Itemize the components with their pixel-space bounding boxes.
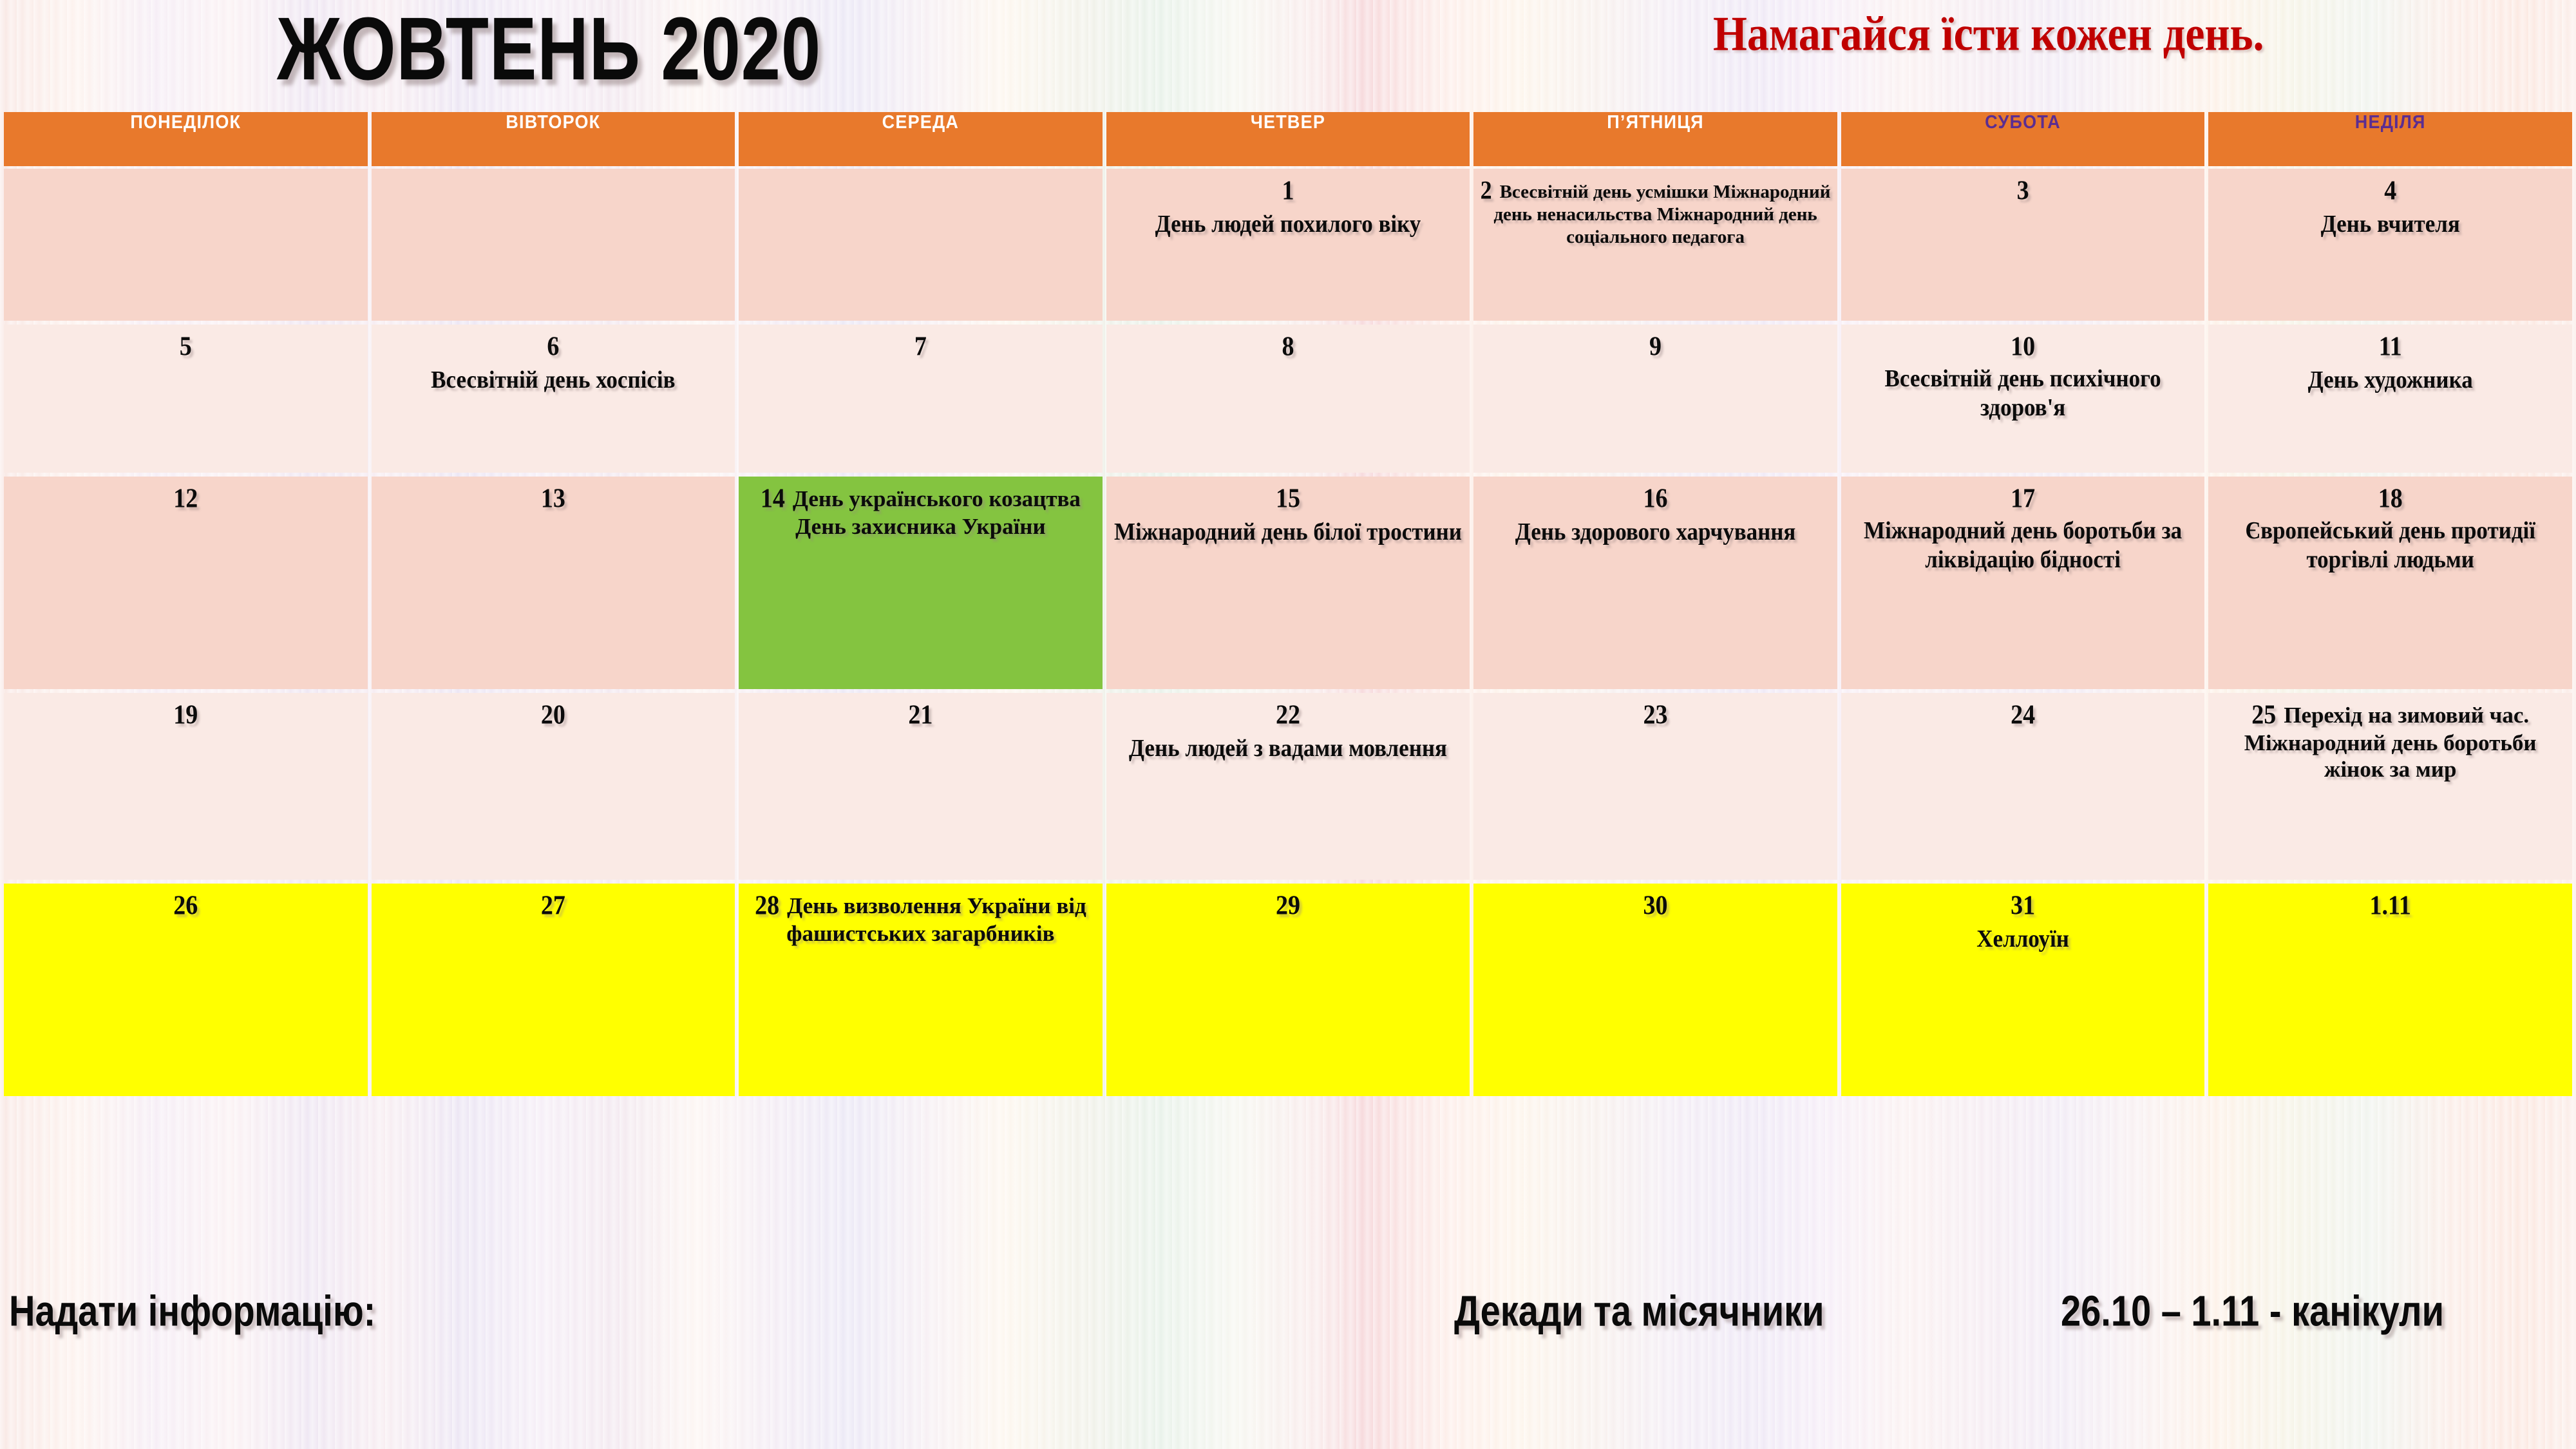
day-cell-content: 8 bbox=[1106, 325, 1470, 365]
calendar-week-row: 1День людей похилого віку2Всесвітній ден… bbox=[4, 169, 2572, 321]
day-number: 14 bbox=[761, 482, 785, 515]
day-number: 19 bbox=[173, 699, 198, 731]
day-cell-content: 2Всесвітній день усмішки Міжнародний ден… bbox=[1473, 169, 1837, 252]
eat-reminder-note: Намагайся їсти кожен день. bbox=[1713, 5, 2264, 62]
day-event-text: Всесвітній день усмішки Міжнародний день… bbox=[1493, 182, 1830, 247]
footer-bar: Надати інформацію: Декади та місячники 2… bbox=[0, 1282, 2576, 1352]
calendar-day-cell[interactable]: 30 bbox=[1473, 884, 1837, 1096]
day-cell-content: 1День людей похилого віку bbox=[1106, 169, 1470, 241]
day-event-text: День вчителя bbox=[2213, 209, 2567, 238]
calendar-day-cell[interactable]: 1День людей похилого віку bbox=[1106, 169, 1470, 321]
day-cell-content: 26 bbox=[4, 884, 368, 924]
day-cell-content: 12 bbox=[4, 477, 368, 517]
calendar-day-cell[interactable]: 2Всесвітній день усмішки Міжнародний ден… bbox=[1473, 169, 1837, 321]
day-event-text: Європейський день протидії торгівлі людь… bbox=[2213, 516, 2567, 574]
weekday-header-monday: ПОНЕДІЛОК bbox=[4, 112, 368, 166]
day-cell-content: 20 bbox=[372, 693, 735, 734]
day-number: 28 bbox=[755, 889, 779, 922]
day-number: 4 bbox=[2384, 175, 2396, 207]
calendar-day-cell[interactable]: 23 bbox=[1473, 693, 1837, 880]
calendar-day-cell[interactable]: 1.11 bbox=[2208, 884, 2572, 1096]
day-number: 23 bbox=[1643, 699, 1668, 731]
day-cell-content: 9 bbox=[1473, 325, 1837, 365]
calendar-day-cell[interactable]: 7 bbox=[739, 325, 1103, 473]
day-cell-content: 13 bbox=[372, 477, 735, 517]
day-cell-content: 6Всесвітній день хоспісів bbox=[372, 325, 735, 397]
day-cell-content bbox=[4, 169, 368, 193]
day-event-text: День художника bbox=[2213, 365, 2567, 394]
day-cell-content: 14День українського козацтва День захисн… bbox=[739, 477, 1103, 544]
day-number: 25 bbox=[2251, 699, 2276, 731]
day-cell-content: 30 bbox=[1473, 884, 1837, 924]
weekday-header-sunday: НЕДІЛЯ bbox=[2208, 112, 2572, 166]
calendar-week-row: 19202122День людей з вадами мовлення2324… bbox=[4, 693, 2572, 880]
day-cell-content: 16День здорового харчування bbox=[1473, 477, 1837, 549]
day-number: 16 bbox=[1643, 482, 1668, 515]
day-number: 2 bbox=[1481, 175, 1492, 205]
weekday-header-friday: П’ЯТНИЦЯ bbox=[1473, 112, 1837, 166]
weekday-header-thursday: ЧЕТВЕР bbox=[1106, 112, 1470, 166]
day-cell-content: 5 bbox=[4, 325, 368, 365]
day-number: 21 bbox=[908, 699, 933, 731]
footer-provide-info: Надати інформацію: bbox=[9, 1285, 375, 1336]
calendar-week-row: 262728День визволення України від фашист… bbox=[4, 884, 2572, 1096]
day-number: 15 bbox=[1276, 482, 1300, 515]
calendar-day-cell[interactable]: 26 bbox=[4, 884, 368, 1096]
day-cell-content bbox=[739, 169, 1103, 193]
day-cell-content: 4День вчителя bbox=[2208, 169, 2572, 241]
day-cell-content: 7 bbox=[739, 325, 1103, 365]
day-event-text: День українського козацтва День захисник… bbox=[793, 486, 1081, 539]
day-event-text: День людей похилого віку bbox=[1112, 209, 1465, 238]
day-number: 31 bbox=[2011, 889, 2035, 922]
day-cell-content: 23 bbox=[1473, 693, 1837, 734]
day-event-text: Всесвітній день психічного здоров'я bbox=[1846, 364, 2200, 422]
day-number: 3 bbox=[2017, 175, 2029, 207]
calendar-day-cell[interactable]: 12 bbox=[4, 477, 368, 689]
day-number: 1.11 bbox=[2369, 889, 2410, 922]
footer-decades: Декади та місячники bbox=[1454, 1285, 1824, 1336]
calendar-day-cell[interactable]: 22День людей з вадами мовлення bbox=[1106, 693, 1470, 880]
calendar-day-cell[interactable]: 31Хеллоуїн bbox=[1841, 884, 2205, 1096]
day-number: 12 bbox=[173, 482, 198, 515]
day-number: 17 bbox=[2011, 482, 2035, 515]
calendar-body: 1День людей похилого віку2Всесвітній ден… bbox=[4, 169, 2572, 1096]
calendar-day-cell[interactable]: 27 bbox=[372, 884, 735, 1096]
day-cell-content: 10Всесвітній день психічного здоров'я bbox=[1841, 325, 2205, 423]
calendar-day-cell[interactable] bbox=[372, 169, 735, 321]
calendar-day-cell[interactable]: 13 bbox=[372, 477, 735, 689]
day-cell-content: 15Міжнародний день білої тростини bbox=[1106, 477, 1470, 549]
day-number: 9 bbox=[1649, 330, 1662, 363]
calendar-day-cell[interactable]: 5 bbox=[4, 325, 368, 473]
day-cell-content: 29 bbox=[1106, 884, 1470, 924]
day-number: 11 bbox=[2379, 330, 2402, 363]
day-number: 27 bbox=[541, 889, 565, 922]
calendar-day-cell[interactable]: 17Міжнародний день боротьби за ліквідаці… bbox=[1841, 477, 2205, 689]
calendar-day-cell[interactable] bbox=[739, 169, 1103, 321]
day-number: 18 bbox=[2378, 482, 2403, 515]
day-event-text: Всесвітній день хоспісів bbox=[377, 365, 730, 394]
day-event-text: Хеллоуїн bbox=[1846, 924, 2200, 953]
day-event-text: Міжнародний день боротьби за ліквідацію … bbox=[1846, 516, 2200, 574]
day-number: 26 bbox=[173, 889, 198, 922]
day-number: 10 bbox=[2011, 330, 2035, 363]
calendar-day-cell[interactable] bbox=[4, 169, 368, 321]
day-number: 13 bbox=[541, 482, 565, 515]
weekday-header-saturday: СУБОТА bbox=[1841, 112, 2205, 166]
day-number: 22 bbox=[1276, 699, 1300, 731]
weekday-header-wednesday: СЕРЕДА bbox=[739, 112, 1103, 166]
day-event-text: День здорового харчування bbox=[1479, 517, 1832, 546]
calendar-day-cell[interactable]: 29 bbox=[1106, 884, 1470, 1096]
day-cell-content: 25Перехід на зимовий час. Міжнародний де… bbox=[2208, 693, 2572, 786]
calendar-day-cell[interactable]: 6Всесвітній день хоспісів bbox=[372, 325, 735, 473]
calendar-day-cell[interactable]: 4День вчителя bbox=[2208, 169, 2572, 321]
calendar-day-cell[interactable]: 15Міжнародний день білої тростини bbox=[1106, 477, 1470, 689]
day-cell-content: 1.11 bbox=[2208, 884, 2572, 924]
day-cell-content: 27 bbox=[372, 884, 735, 924]
day-number: 5 bbox=[180, 330, 192, 363]
day-number: 8 bbox=[1282, 330, 1294, 363]
weekday-header-tuesday: ВІВТОРОК bbox=[372, 112, 735, 166]
day-cell-content: 19 bbox=[4, 693, 368, 734]
day-number: 20 bbox=[541, 699, 565, 731]
calendar-day-cell[interactable]: 19 bbox=[4, 693, 368, 880]
day-number: 6 bbox=[547, 330, 559, 363]
day-number: 29 bbox=[1276, 889, 1300, 922]
day-number: 1 bbox=[1282, 175, 1294, 207]
calendar-day-cell[interactable]: 14День українського козацтва День захисн… bbox=[739, 477, 1103, 689]
day-number: 7 bbox=[914, 330, 927, 363]
calendar-week-row: 56Всесвітній день хоспісів78910Всесвітні… bbox=[4, 325, 2572, 473]
day-event-text: День визволення України від фашистських … bbox=[786, 893, 1086, 946]
calendar-day-cell[interactable]: 16День здорового харчування bbox=[1473, 477, 1837, 689]
day-cell-content: 31Хеллоуїн bbox=[1841, 884, 2205, 956]
calendar-day-cell[interactable]: 10Всесвітній день психічного здоров'я bbox=[1841, 325, 2205, 473]
day-cell-content bbox=[372, 169, 735, 193]
header-band: ЖОВТЕНЬ 2020 Намагайся їсти кожен день. bbox=[0, 0, 2576, 109]
day-number: 24 bbox=[2011, 699, 2035, 731]
day-cell-content: 21 bbox=[739, 693, 1103, 734]
calendar-day-cell[interactable]: 24 bbox=[1841, 693, 2205, 880]
day-cell-content: 24 bbox=[1841, 693, 2205, 734]
calendar-day-cell[interactable]: 18Європейський день протидії торгівлі лю… bbox=[2208, 477, 2572, 689]
calendar-day-cell[interactable]: 28День визволення України від фашистськи… bbox=[739, 884, 1103, 1096]
calendar-day-cell[interactable]: 21 bbox=[739, 693, 1103, 880]
day-event-text: День людей з вадами мовлення bbox=[1112, 734, 1465, 762]
calendar-table: ПОНЕДІЛОК ВІВТОРОК СЕРЕДА ЧЕТВЕР П’ЯТНИЦ… bbox=[0, 109, 2576, 1100]
calendar-day-cell[interactable]: 9 bbox=[1473, 325, 1837, 473]
footer-holidays: 26.10 – 1.11 - канікули bbox=[2061, 1285, 2444, 1336]
day-cell-content: 11День художника bbox=[2208, 325, 2572, 397]
calendar-day-cell[interactable]: 25Перехід на зимовий час. Міжнародний де… bbox=[2208, 693, 2572, 880]
page-title: ЖОВТЕНЬ 2020 bbox=[277, 0, 821, 100]
day-cell-content: 28День визволення України від фашистськи… bbox=[739, 884, 1103, 951]
calendar-day-cell[interactable]: 3 bbox=[1841, 169, 2205, 321]
day-cell-content: 17Міжнародний день боротьби за ліквідаці… bbox=[1841, 477, 2205, 575]
calendar-week-row: 121314День українського козацтва День за… bbox=[4, 477, 2572, 689]
calendar-day-cell[interactable]: 11День художника bbox=[2208, 325, 2572, 473]
calendar-day-cell[interactable]: 8 bbox=[1106, 325, 1470, 473]
day-cell-content: 18Європейський день протидії торгівлі лю… bbox=[2208, 477, 2572, 575]
day-cell-content: 3 bbox=[1841, 169, 2205, 209]
calendar-page: ЖОВТЕНЬ 2020 Намагайся їсти кожен день. … bbox=[0, 0, 2576, 1449]
day-event-text: Міжнародний день білої тростини bbox=[1112, 517, 1465, 546]
day-cell-content: 22День людей з вадами мовлення bbox=[1106, 693, 1470, 765]
day-event-text: Перехід на зимовий час. Міжнародний день… bbox=[2244, 703, 2537, 782]
day-number: 30 bbox=[1643, 889, 1668, 922]
weekday-header-row: ПОНЕДІЛОК ВІВТОРОК СЕРЕДА ЧЕТВЕР П’ЯТНИЦ… bbox=[4, 113, 2572, 165]
calendar-day-cell[interactable]: 20 bbox=[372, 693, 735, 880]
